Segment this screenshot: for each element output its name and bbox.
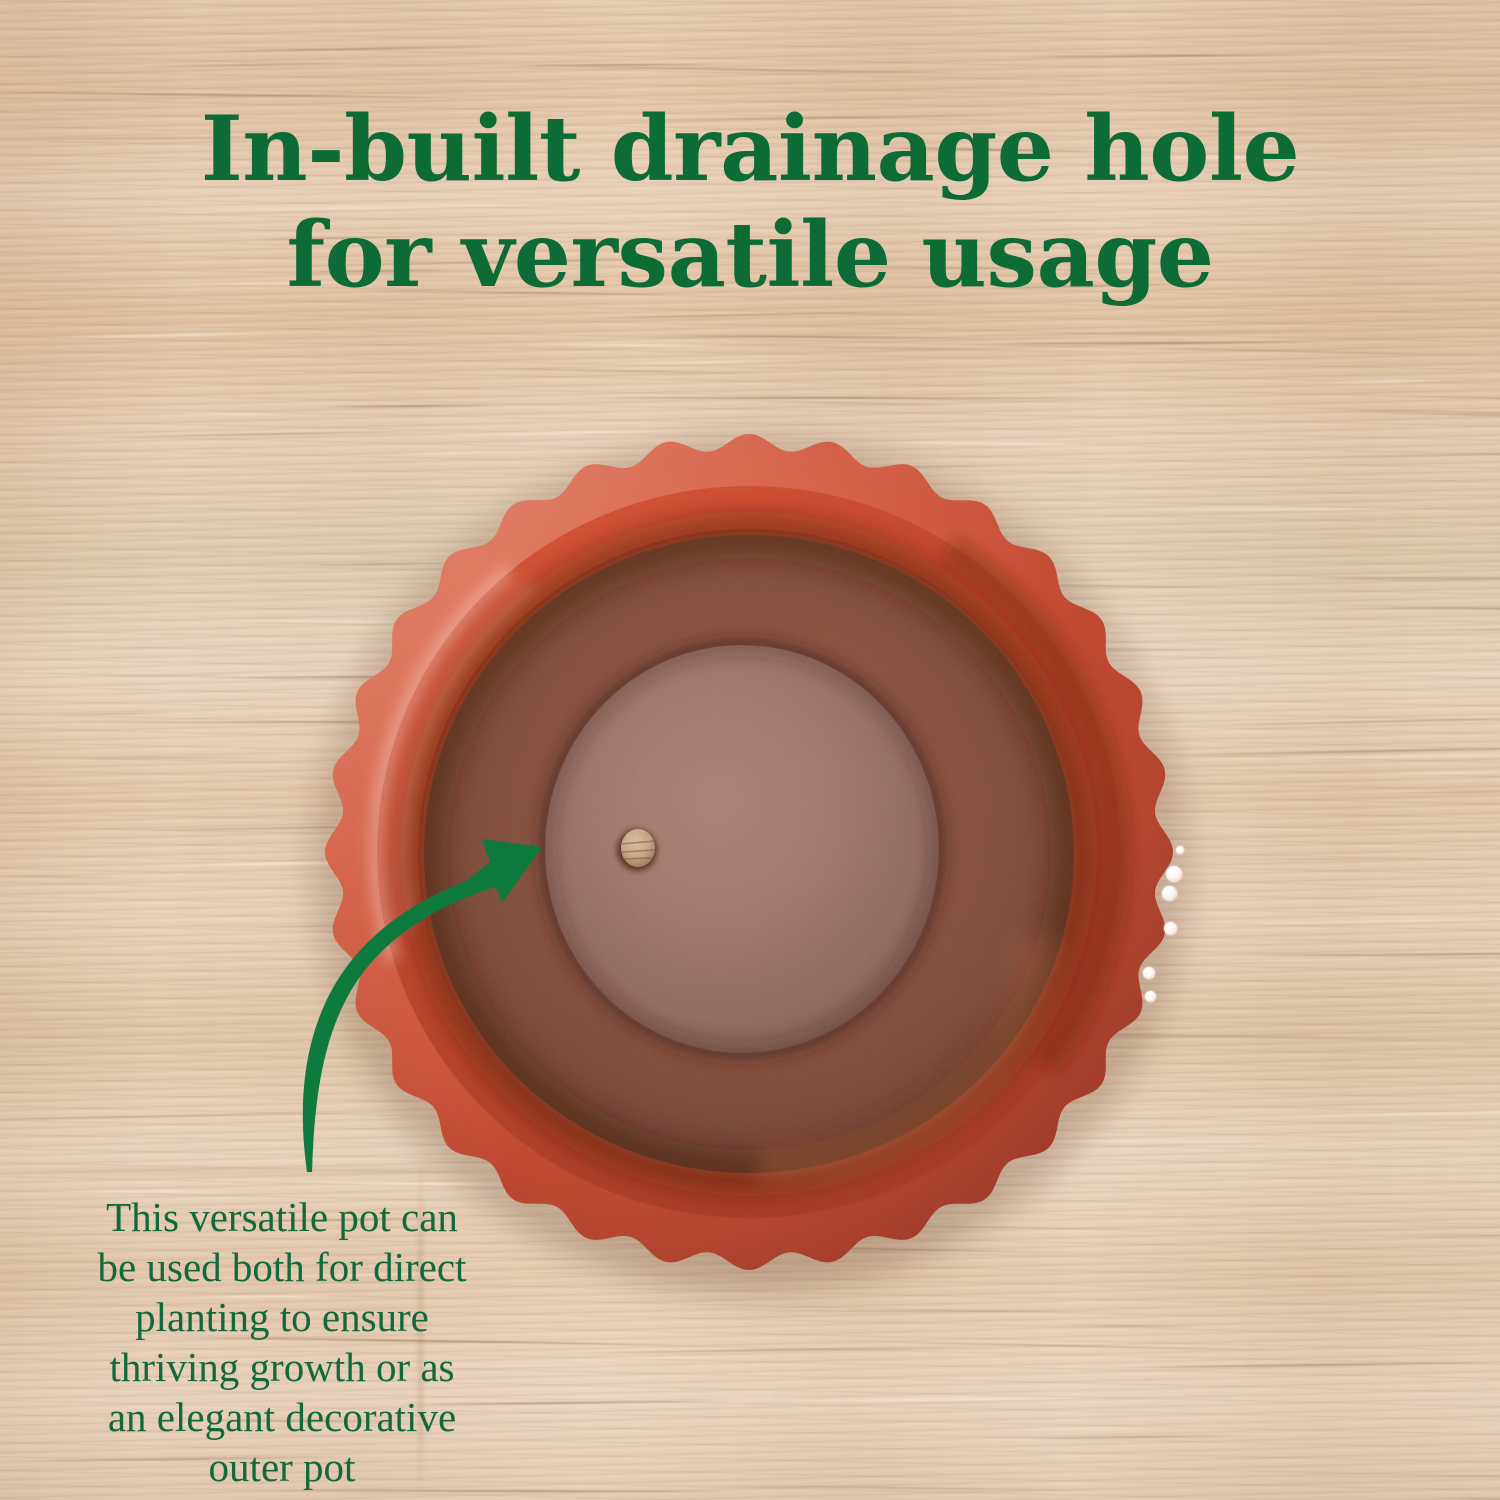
blurb-line-1: This versatile pot can	[42, 1192, 522, 1242]
blurb-line-6: outer pot	[42, 1442, 522, 1492]
drainage-hole	[621, 829, 655, 867]
annotation-arrow	[250, 790, 590, 1210]
blurb-line-5: an elegant decorative	[42, 1392, 522, 1442]
water-droplet	[1145, 991, 1156, 1002]
description-text: This versatile pot can be used both for …	[42, 1192, 522, 1492]
page-title: In-built drainage hole for versatile usa…	[0, 96, 1500, 308]
blurb-line-2: be used both for direct	[42, 1242, 522, 1292]
blurb-line-4: thriving growth or as	[42, 1342, 522, 1392]
water-droplet	[1164, 922, 1177, 935]
water-droplet	[1176, 846, 1184, 854]
promo-image-canvas: In-built drainage hole for versatile usa…	[0, 0, 1500, 1500]
water-droplet	[1166, 866, 1182, 882]
blurb-line-3: planting to ensure	[42, 1292, 522, 1342]
water-droplet	[1162, 886, 1177, 901]
headline-line-1: In-built drainage hole	[201, 96, 1300, 202]
arrow-tail	[303, 872, 498, 1172]
headline-line-2: for versatile usage	[0, 202, 1500, 308]
water-droplet	[1143, 967, 1155, 979]
